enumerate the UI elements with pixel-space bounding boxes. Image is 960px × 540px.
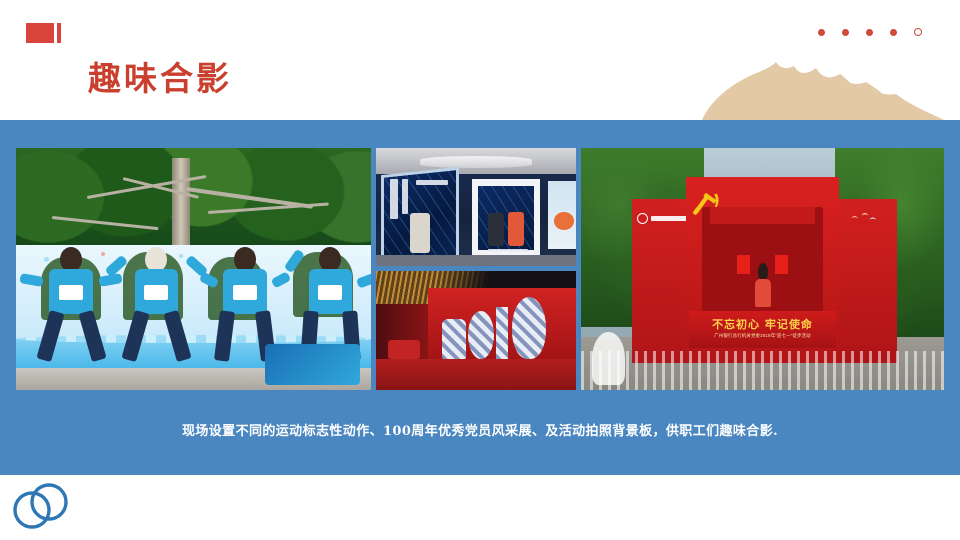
pagination-dot-5[interactable] — [914, 28, 922, 36]
digit-1 — [496, 307, 508, 359]
page-title: 趣味合影 — [88, 58, 232, 99]
pagination-dot-2[interactable] — [842, 29, 849, 36]
digit-9 — [512, 297, 546, 359]
photo-sports-backdrop[interactable] — [16, 148, 371, 390]
slogan-banner: 不忘初心 牢记使命 广州银行总行机关党委2019年“迎七一”徒步活动 — [689, 311, 835, 348]
small-flag-left-icon — [737, 255, 751, 274]
photo-party-booth[interactable]: 不忘初心 牢记使命 广州银行总行机关党委2019年“迎七一”徒步活动 — [581, 148, 944, 390]
photo-event-logo — [265, 344, 361, 385]
red-block-icon — [26, 23, 54, 43]
pagination-dot-3[interactable] — [866, 29, 873, 36]
slide-caption: 现场设置不同的运动标志性动作、100周年优秀党员风采展、及活动拍照背景板，供职工… — [0, 420, 960, 439]
birds-decoration-icon — [846, 211, 882, 226]
pagination-dot-1[interactable] — [818, 29, 825, 36]
photo-person-middle-a — [488, 213, 504, 246]
digit-0 — [468, 311, 494, 359]
slogan-text: 不忘初心 牢记使命 — [689, 316, 835, 332]
photo-person-1 — [37, 247, 104, 361]
pagination-dot-4[interactable] — [890, 29, 897, 36]
gallery-column-middle — [376, 148, 576, 390]
small-flag-right-icon — [775, 255, 789, 274]
red-bar-icon — [57, 23, 61, 43]
photo-2019-wall[interactable] — [376, 271, 576, 390]
gallery-column-right: 不忘初心 牢记使命 广州银行总行机关党委2019年“迎七一”徒步活动 — [581, 148, 944, 390]
photo-indoor-exhibition[interactable] — [376, 148, 576, 266]
sub-slogan-text: 广州银行总行机关党委2019年“迎七一”徒步活动 — [689, 333, 835, 339]
photo-person-booth — [753, 263, 773, 308]
brushstroke-decoration-icon — [690, 40, 960, 126]
photo-person-2 — [123, 247, 190, 361]
red-block-mark-icon — [26, 23, 61, 43]
pagination-dots[interactable] — [818, 28, 922, 36]
two-rings-logo-icon — [8, 480, 76, 532]
photo-person-left — [410, 213, 430, 253]
gallery-column-left — [16, 148, 371, 390]
photo-person-middle-b — [508, 212, 524, 246]
photo-gallery: 不忘初心 牢记使命 广州银行总行机关党委2019年“迎七一”徒步活动 — [16, 148, 944, 390]
digit-2 — [442, 319, 466, 359]
slide: 趣味合影 — [0, 0, 960, 540]
